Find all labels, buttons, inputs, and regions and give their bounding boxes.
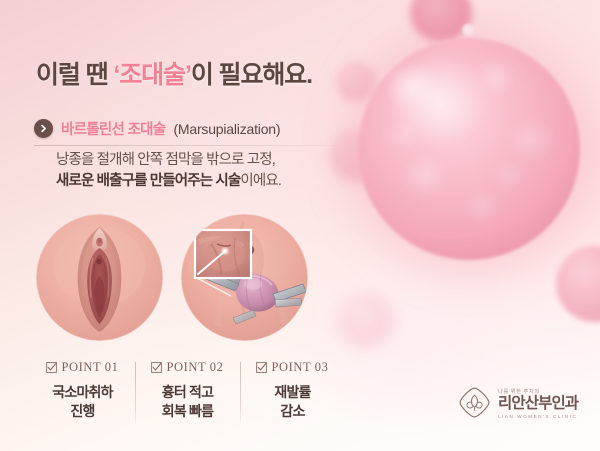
headline-suffix: 이 필요해요. bbox=[191, 61, 312, 89]
checkbox-checked-icon bbox=[151, 362, 162, 373]
page-title: 이럴 땐 ‘조대술’이 필요해요. bbox=[36, 55, 312, 91]
infographic-canvas: 이럴 땐 ‘조대술’이 필요해요. 바르톨린선 조대술 (Marsupializ… bbox=[0, 0, 600, 451]
point-2-line-1: 흉터 적고 bbox=[162, 383, 213, 402]
point-3-line-2: 감소 bbox=[274, 402, 310, 421]
lian-flower-diamond-logo-icon bbox=[458, 386, 491, 419]
description-line-1: 낭종을 절개해 안쪽 점막을 밖으로 고정, bbox=[56, 150, 281, 171]
point-3-line-1: 재발률 bbox=[274, 383, 310, 402]
checkbox-checked-icon bbox=[46, 362, 57, 373]
point-2-header: POINT 02 bbox=[151, 360, 223, 375]
headline-accent: ‘조대술’ bbox=[113, 61, 190, 89]
point-item-2: POINT 02 흉터 적고 회복 빠름 bbox=[135, 360, 240, 421]
subheading-korean: 바르톨린선 조대술 bbox=[61, 118, 165, 139]
description-block: 낭종을 절개해 안쪽 점막을 밖으로 고정, 새로운 배출구를 만들어주는 시술… bbox=[56, 150, 281, 192]
checkbox-checked-icon bbox=[256, 362, 267, 373]
point-item-1: POINT 01 국소마취하 진행 bbox=[30, 360, 135, 421]
point-2-label: POINT 02 bbox=[166, 360, 223, 375]
point-1-line-2: 진행 bbox=[52, 402, 112, 421]
description-line-2: 새로운 배출구를 만들어주는 시술이에요. bbox=[56, 171, 281, 192]
description-line-2-bold: 새로운 배출구를 만들어주는 시술 bbox=[56, 173, 240, 189]
subheading: 바르톨린선 조대술 (Marsupialization) bbox=[34, 118, 280, 139]
headline-prefix: 이럴 땐 bbox=[36, 61, 113, 89]
logo-name: 리안산부인과 bbox=[498, 396, 578, 412]
point-3-body: 재발률 감소 bbox=[274, 383, 310, 421]
marsupialization-procedure-illustration bbox=[181, 214, 308, 341]
subheading-english: (Marsupialization) bbox=[173, 121, 280, 137]
point-1-label: POINT 01 bbox=[61, 360, 118, 375]
description-line-2-tail: 이에요. bbox=[240, 173, 281, 189]
point-2-body: 흉터 적고 회복 빠름 bbox=[162, 383, 213, 421]
point-item-3: POINT 03 재발률 감소 bbox=[240, 360, 345, 421]
clinic-logo: 나를 위한 주치의 리안산부인과 LIAN WOMEN'S CLINIC bbox=[458, 386, 578, 419]
points-row: POINT 01 국소마취하 진행 POINT 02 흉터 적고 bbox=[30, 360, 345, 434]
logo-subtitle: LIAN WOMEN'S CLINIC bbox=[498, 414, 578, 419]
point-1-header: POINT 01 bbox=[46, 360, 118, 375]
logo-tagline: 나를 위한 주치의 bbox=[498, 387, 578, 395]
point-3-header: POINT 03 bbox=[256, 360, 328, 375]
vulva-anatomy-illustration bbox=[36, 214, 163, 341]
chevron-right-icon bbox=[34, 119, 53, 138]
point-2-line-2: 회복 빠름 bbox=[162, 402, 213, 421]
point-1-line-1: 국소마취하 bbox=[52, 383, 112, 402]
subheading-divider bbox=[34, 145, 338, 146]
point-1-body: 국소마취하 진행 bbox=[52, 383, 112, 421]
point-3-label: POINT 03 bbox=[271, 360, 328, 375]
